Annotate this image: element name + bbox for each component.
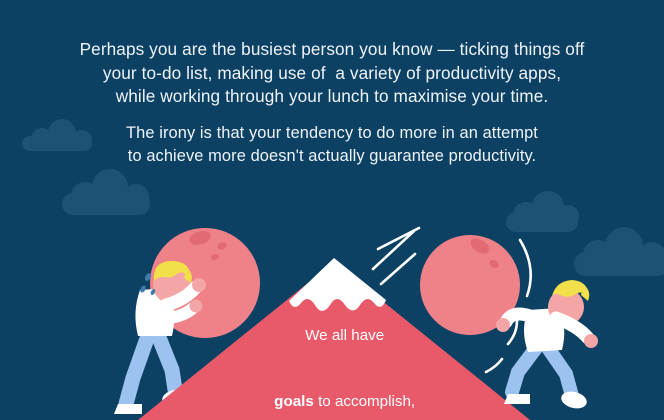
speed-lines — [373, 228, 419, 284]
caption-line-1: We all have — [168, 303, 496, 369]
caption-keyword-goals: goals — [274, 393, 314, 410]
caption-line-2: goals to accomplish, — [168, 369, 496, 420]
mountain-caption: We all have goals to accomplish, deadlin… — [168, 303, 496, 420]
caption-line-2-text: to accomplish, — [314, 393, 415, 410]
caption-line-1-text: We all have — [305, 327, 384, 344]
infographic-panel: Perhaps you are the busiest person you k… — [0, 0, 664, 420]
